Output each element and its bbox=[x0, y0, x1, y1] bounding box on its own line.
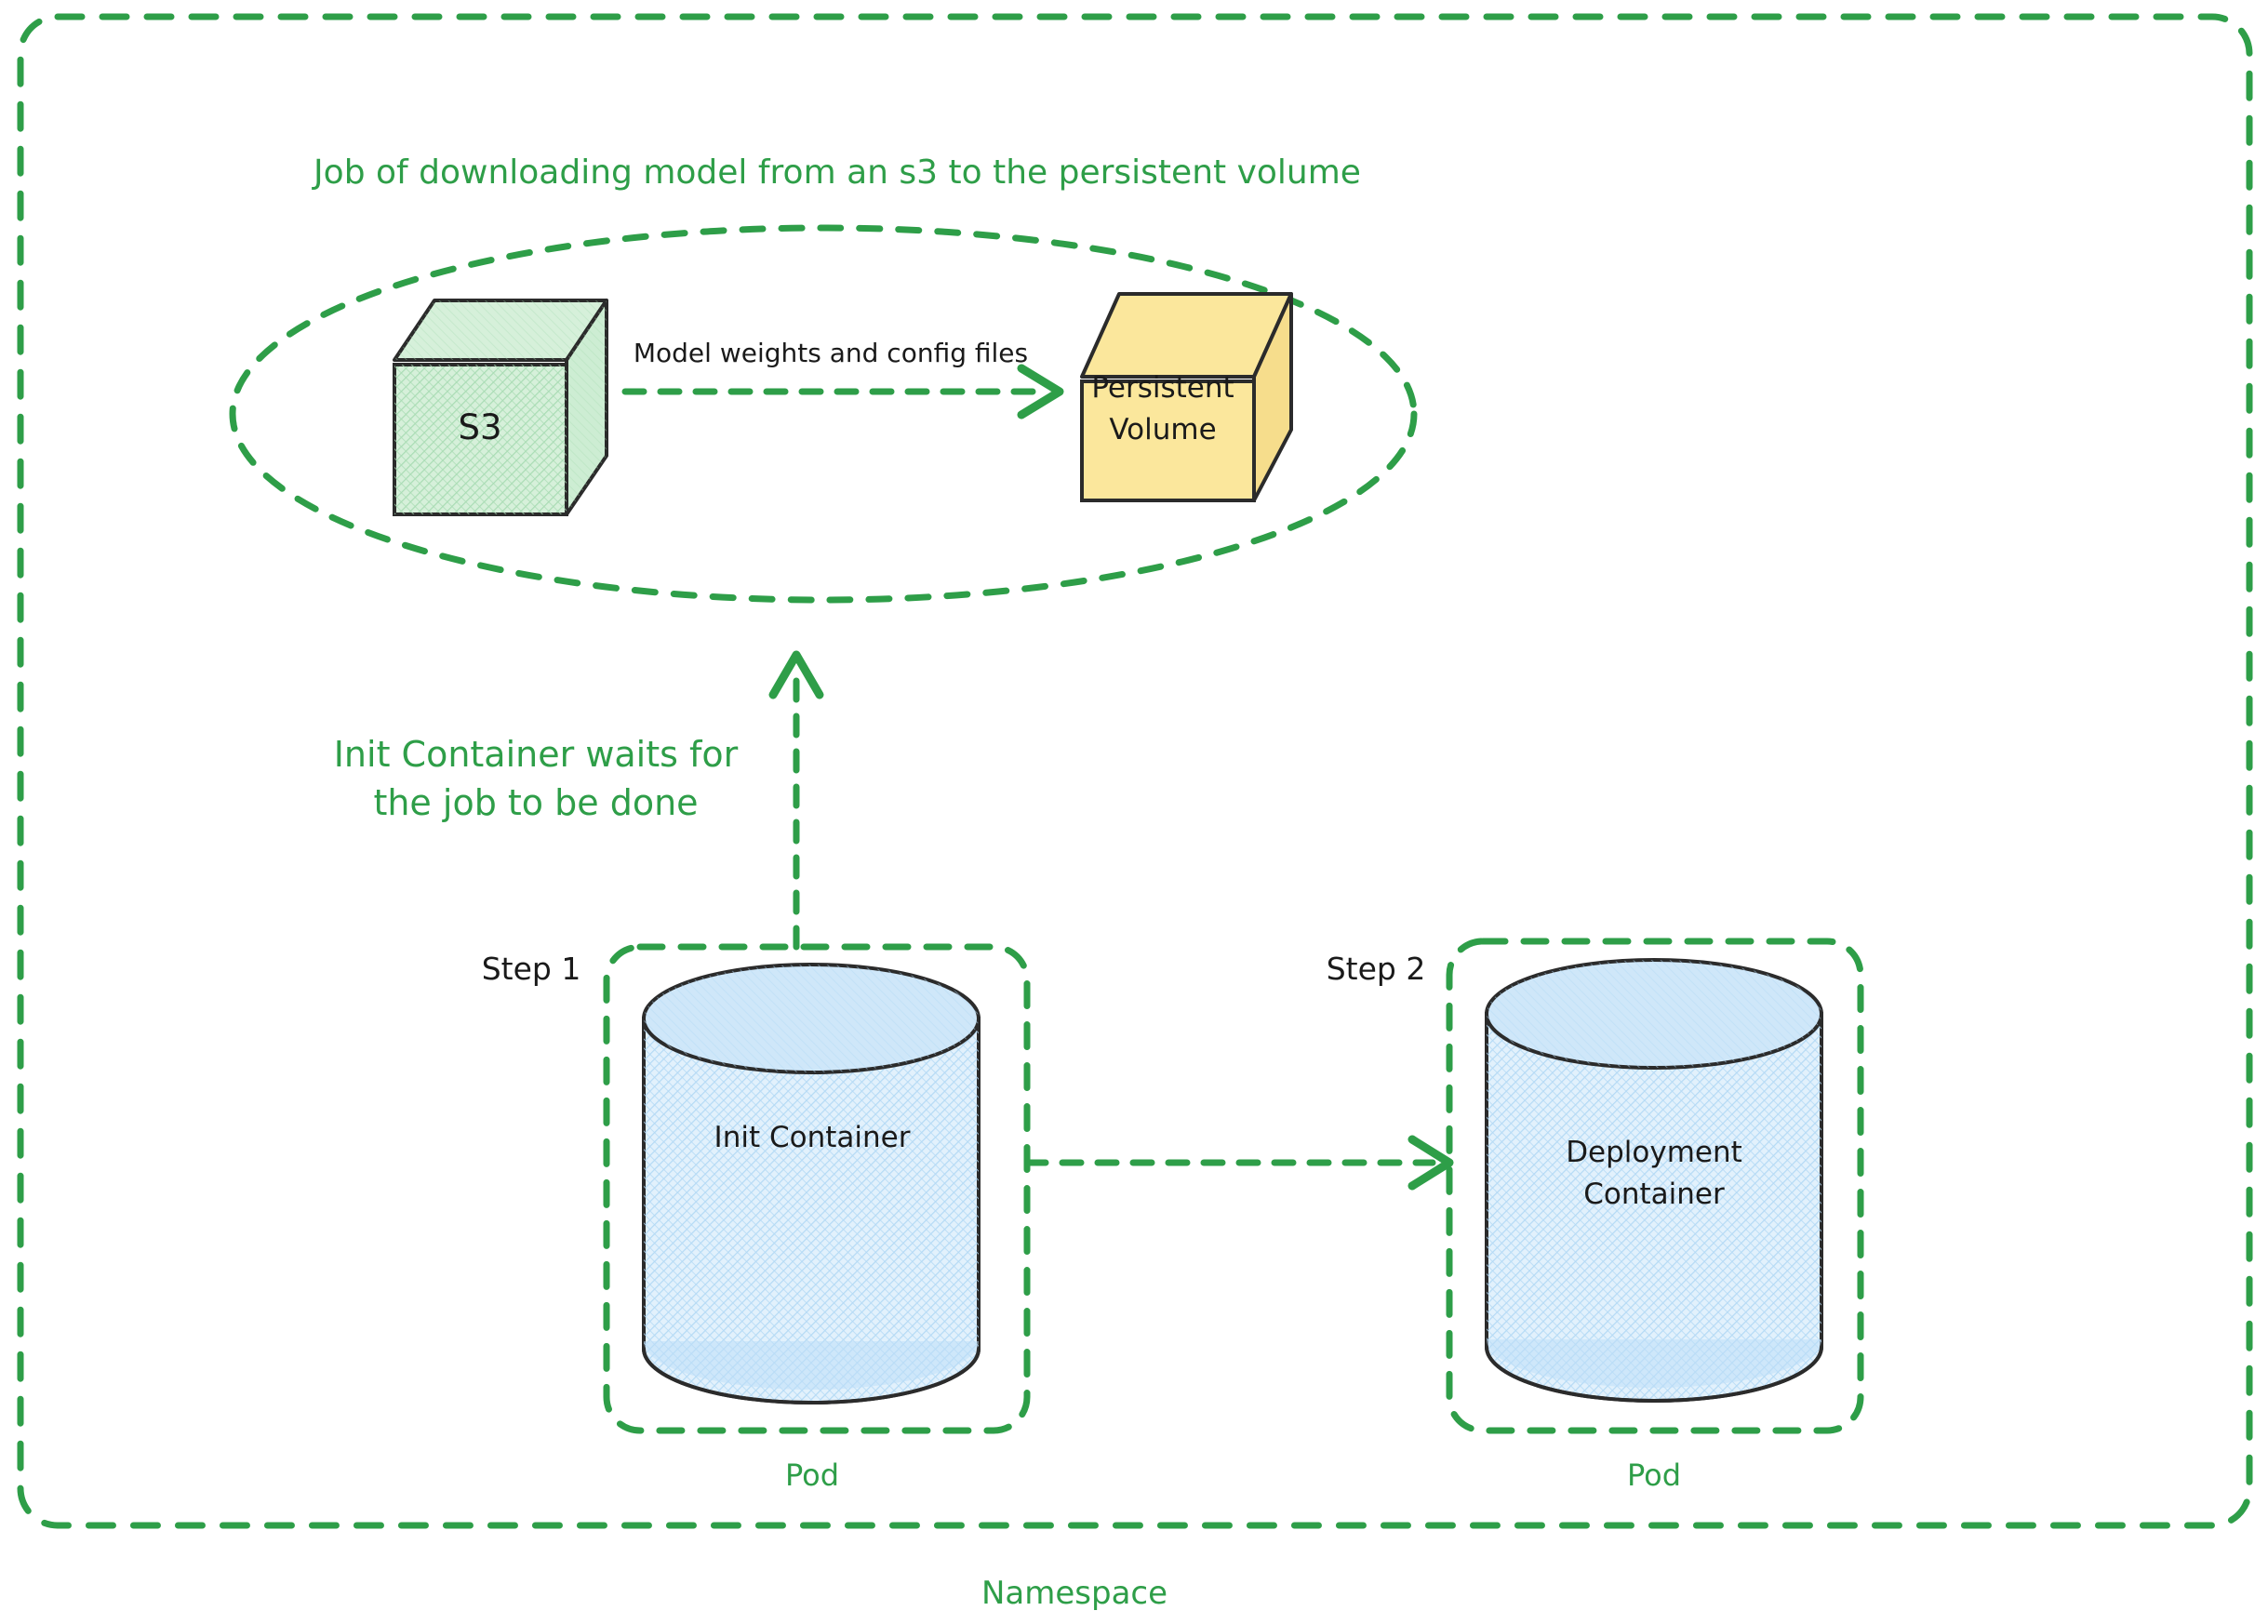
model-transfer-arrow-label: Model weights and config files bbox=[634, 337, 1028, 369]
init-waits-note-line2: the job to be done bbox=[373, 781, 698, 826]
persistent-volume-label-line1: Persistent bbox=[1091, 370, 1234, 406]
job-title-label: Job of downloading model from an s3 to t… bbox=[314, 152, 1361, 193]
init-container-cylinder bbox=[644, 965, 979, 1403]
deployment-container-label-line2: Container bbox=[1583, 1177, 1725, 1213]
s3-cube-label: S3 bbox=[458, 406, 501, 449]
model-transfer-arrow bbox=[625, 368, 1060, 415]
diagram-canvas: Job of downloading model from an s3 to t… bbox=[0, 0, 2268, 1624]
pod-label-2: Pod bbox=[1627, 1457, 1681, 1494]
init-waits-arrow bbox=[773, 655, 820, 947]
step-transition-arrow bbox=[1027, 1139, 1449, 1186]
deployment-container-label-line1: Deployment bbox=[1566, 1135, 1742, 1171]
pod-label-1: Pod bbox=[785, 1457, 839, 1494]
step-2-label: Step 2 bbox=[1327, 950, 1426, 988]
init-waits-note-line1: Init Container waits for bbox=[334, 733, 739, 778]
namespace-label: Namespace bbox=[981, 1574, 1167, 1614]
persistent-volume-label-line2: Volume bbox=[1109, 412, 1216, 448]
step-1-label: Step 1 bbox=[482, 950, 581, 988]
diagram-svg bbox=[0, 0, 2268, 1624]
init-container-label: Init Container bbox=[714, 1120, 911, 1156]
